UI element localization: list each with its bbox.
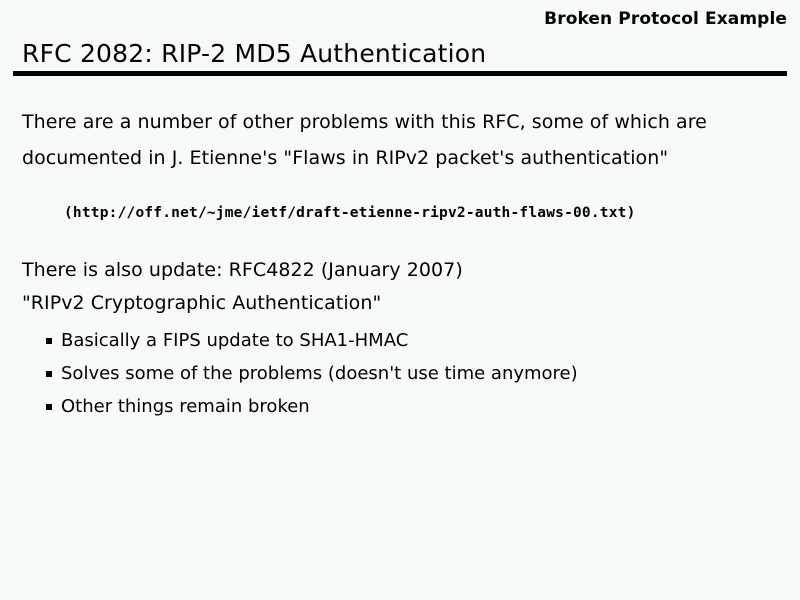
list-item: Basically a FIPS update to SHA1-HMAC: [22, 324, 778, 357]
square-bullet-icon: [46, 338, 52, 344]
intro-paragraph-line-2: documented in J. Etienne's "Flaws in RIP…: [22, 140, 778, 176]
list-item: Solves some of the problems (doesn't use…: [22, 357, 778, 390]
title-divider: [13, 71, 787, 76]
list-item-label: Other things remain broken: [61, 396, 310, 417]
list-item: Other things remain broken: [22, 390, 778, 423]
intro-paragraph-line-1: There are a number of other problems wit…: [22, 104, 778, 140]
square-bullet-icon: [46, 404, 52, 410]
reference-url: (http://off.net/~jme/ietf/draft-etienne-…: [64, 202, 778, 224]
list-item-label: Basically a FIPS update to SHA1-HMAC: [61, 330, 408, 351]
update-line-title: "RIPv2 Cryptographic Authentication": [22, 287, 778, 320]
square-bullet-icon: [46, 371, 52, 377]
list-item-label: Solves some of the problems (doesn't use…: [61, 363, 578, 384]
slide-title: RFC 2082: RIP-2 MD5 Authentication: [22, 39, 486, 69]
update-block: There is also update: RFC4822 (January 2…: [22, 254, 778, 320]
slide-body: There are a number of other problems wit…: [22, 104, 778, 423]
update-line-rfc: There is also update: RFC4822 (January 2…: [22, 254, 778, 287]
presentation-slide: Broken Protocol Example RFC 2082: RIP-2 …: [0, 0, 800, 600]
slide-kicker: Broken Protocol Example: [0, 8, 787, 30]
bullet-list: Basically a FIPS update to SHA1-HMAC Sol…: [22, 324, 778, 423]
